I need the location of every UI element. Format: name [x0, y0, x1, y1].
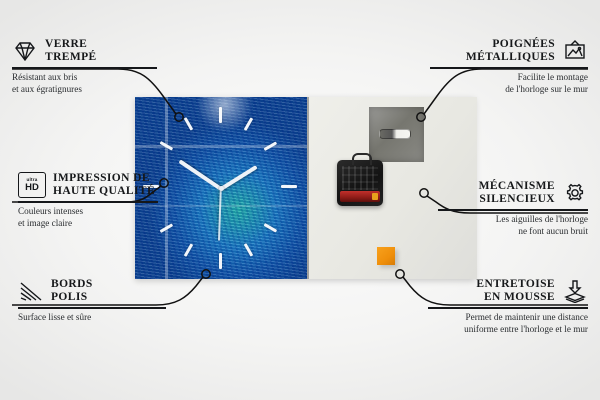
callout-tempered-glass: VERRE TREMPÉ Résistant aux bris et aux é… [12, 38, 162, 96]
hour-tick [219, 107, 222, 123]
foam-spacer-pad [377, 247, 395, 265]
callout-description: Les aiguilles de l'horloge ne font aucun… [438, 214, 588, 238]
callout-header: POIGNÉES MÉTALLIQUES [430, 38, 588, 64]
hanging-frame-icon [562, 39, 588, 63]
callout-description: Résistant aux bris et aux égratignures [12, 72, 162, 96]
callout-description: Facilite le montage de l'horloge sur le … [430, 72, 588, 96]
mechanism-loop [352, 153, 372, 165]
callout-rule [18, 307, 166, 309]
hour-tick [184, 117, 193, 130]
hour-hand [220, 165, 258, 191]
battery-terminal [372, 193, 378, 200]
hour-tick [264, 141, 277, 150]
callout-title: BORDS POLIS [51, 278, 93, 304]
callout-header: ultra HD IMPRESSION DE HAUTE QUALITÉ [18, 172, 170, 198]
callout-polished-edges: BORDS POLIS Surface lisse et sûre [18, 278, 170, 324]
hour-tick [219, 253, 222, 269]
callout-description: Surface lisse et sûre [18, 312, 170, 324]
callout-title: MÉCANISME SILENCIEUX [479, 180, 555, 206]
ultra-hd-icon-main-text: HD [25, 183, 39, 193]
battery [340, 191, 380, 202]
callout-hd-print: ultra HD IMPRESSION DE HAUTE QUALITÉ Cou… [18, 172, 170, 230]
callout-description: Permet de maintenir une distance uniform… [428, 312, 588, 336]
callout-rule [438, 209, 588, 211]
hanger-keyhole-slot [379, 129, 411, 139]
callout-rule [18, 201, 158, 203]
hour-tick [160, 141, 173, 150]
callout-title: IMPRESSION DE HAUTE QUALITÉ [53, 172, 155, 198]
callout-header: BORDS POLIS [18, 278, 170, 304]
callout-foam-spacer: ENTRETOISE EN MOUSSE Permet de maintenir… [428, 278, 588, 336]
callout-title: POIGNÉES MÉTALLIQUES [466, 38, 555, 64]
callout-description: Couleurs intenses et image claire [18, 206, 170, 230]
callout-header: MÉCANISME SILENCIEUX [438, 180, 588, 206]
mechanism-texture [342, 166, 378, 190]
product-photo [135, 97, 475, 279]
hour-tick [244, 117, 253, 130]
gear-icon [562, 181, 588, 205]
callout-rule [12, 67, 157, 69]
callout-metal-handles: POIGNÉES MÉTALLIQUES Facilite le montage… [430, 38, 588, 96]
arrow-down-pad-icon [562, 279, 588, 303]
callout-rule [430, 67, 588, 69]
infographic-canvas: VERRE TREMPÉ Résistant aux bris et aux é… [0, 0, 600, 400]
callout-title: VERRE TREMPÉ [45, 38, 97, 64]
hour-tick [184, 243, 193, 256]
hour-tick [264, 223, 277, 232]
hour-tick [281, 185, 297, 188]
minute-hand [178, 159, 222, 190]
diamond-icon [12, 39, 38, 63]
callout-header: ENTRETOISE EN MOUSSE [428, 278, 588, 304]
bevel-lines-icon [18, 279, 44, 303]
ultra-hd-icon: ultra HD [18, 172, 46, 198]
hour-tick [244, 243, 253, 256]
callout-rule [428, 307, 588, 309]
clock-hub [219, 186, 224, 191]
metal-hanger-plate [369, 107, 424, 162]
callout-silent-mechanism: MÉCANISME SILENCIEUX Les aiguilles de l'… [438, 180, 588, 238]
second-hand [218, 189, 221, 241]
quartz-mechanism [337, 160, 383, 206]
callout-title: ENTRETOISE EN MOUSSE [476, 278, 555, 304]
callout-header: VERRE TREMPÉ [12, 38, 162, 64]
